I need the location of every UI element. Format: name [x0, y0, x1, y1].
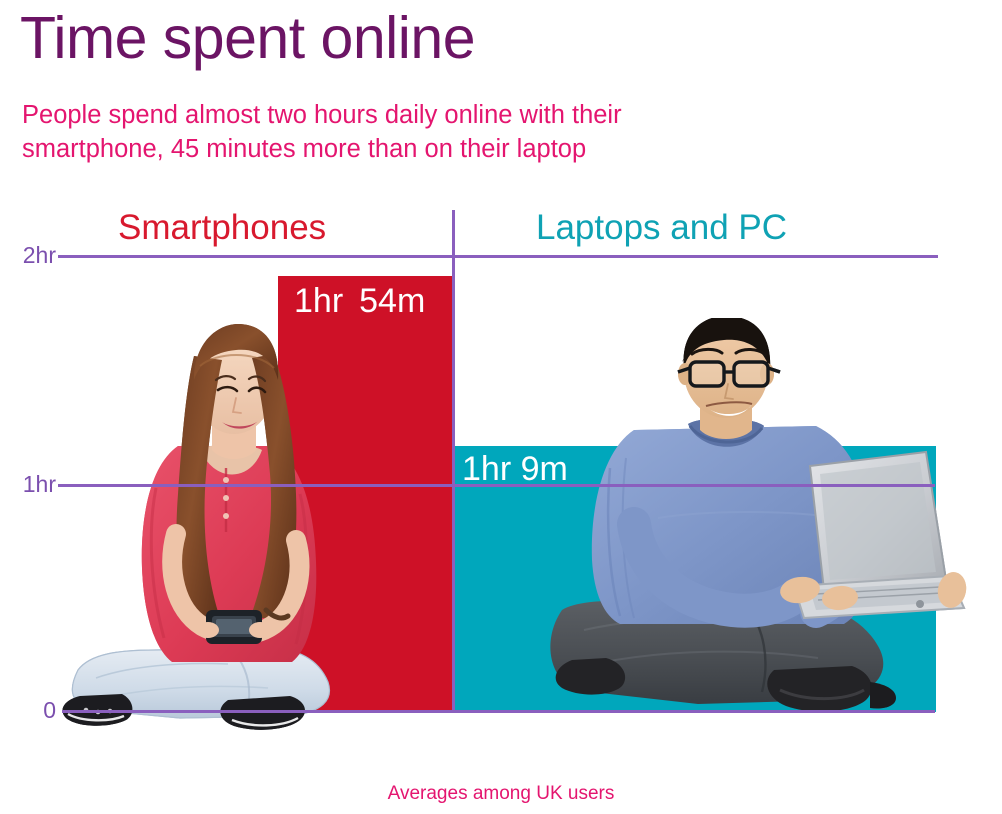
bar-value-smartphones-hours: 1hr: [294, 282, 343, 320]
gridline-1hr: [58, 484, 935, 487]
category-heading-laptops: Laptops and PC: [536, 208, 787, 248]
gridline-baseline: [62, 710, 935, 713]
chart-footnote: Averages among UK users: [0, 783, 1002, 805]
axis-tick-2hr: 2hr: [4, 244, 56, 267]
photo-woman-with-smartphone-overlay: [60, 318, 400, 748]
bar-value-smartphones-minutes: 54m: [359, 282, 425, 320]
axis-tick-1hr: 1hr: [4, 473, 56, 496]
photo-man-with-laptop-overlay: [548, 318, 968, 748]
axis-tick-0: 0: [4, 699, 56, 722]
chart-plot-area: Smartphones Laptops and PC: [0, 0, 1002, 814]
gridline-2hr: [58, 255, 938, 258]
category-heading-smartphones: Smartphones: [118, 208, 326, 248]
bar-value-label-laptops: 1hr 9m: [462, 451, 568, 487]
bar-value-label-smartphones: 1hr54m: [294, 283, 425, 319]
infographic-canvas: Time spent online People spend almost tw…: [0, 0, 1002, 814]
category-divider: [452, 210, 455, 713]
